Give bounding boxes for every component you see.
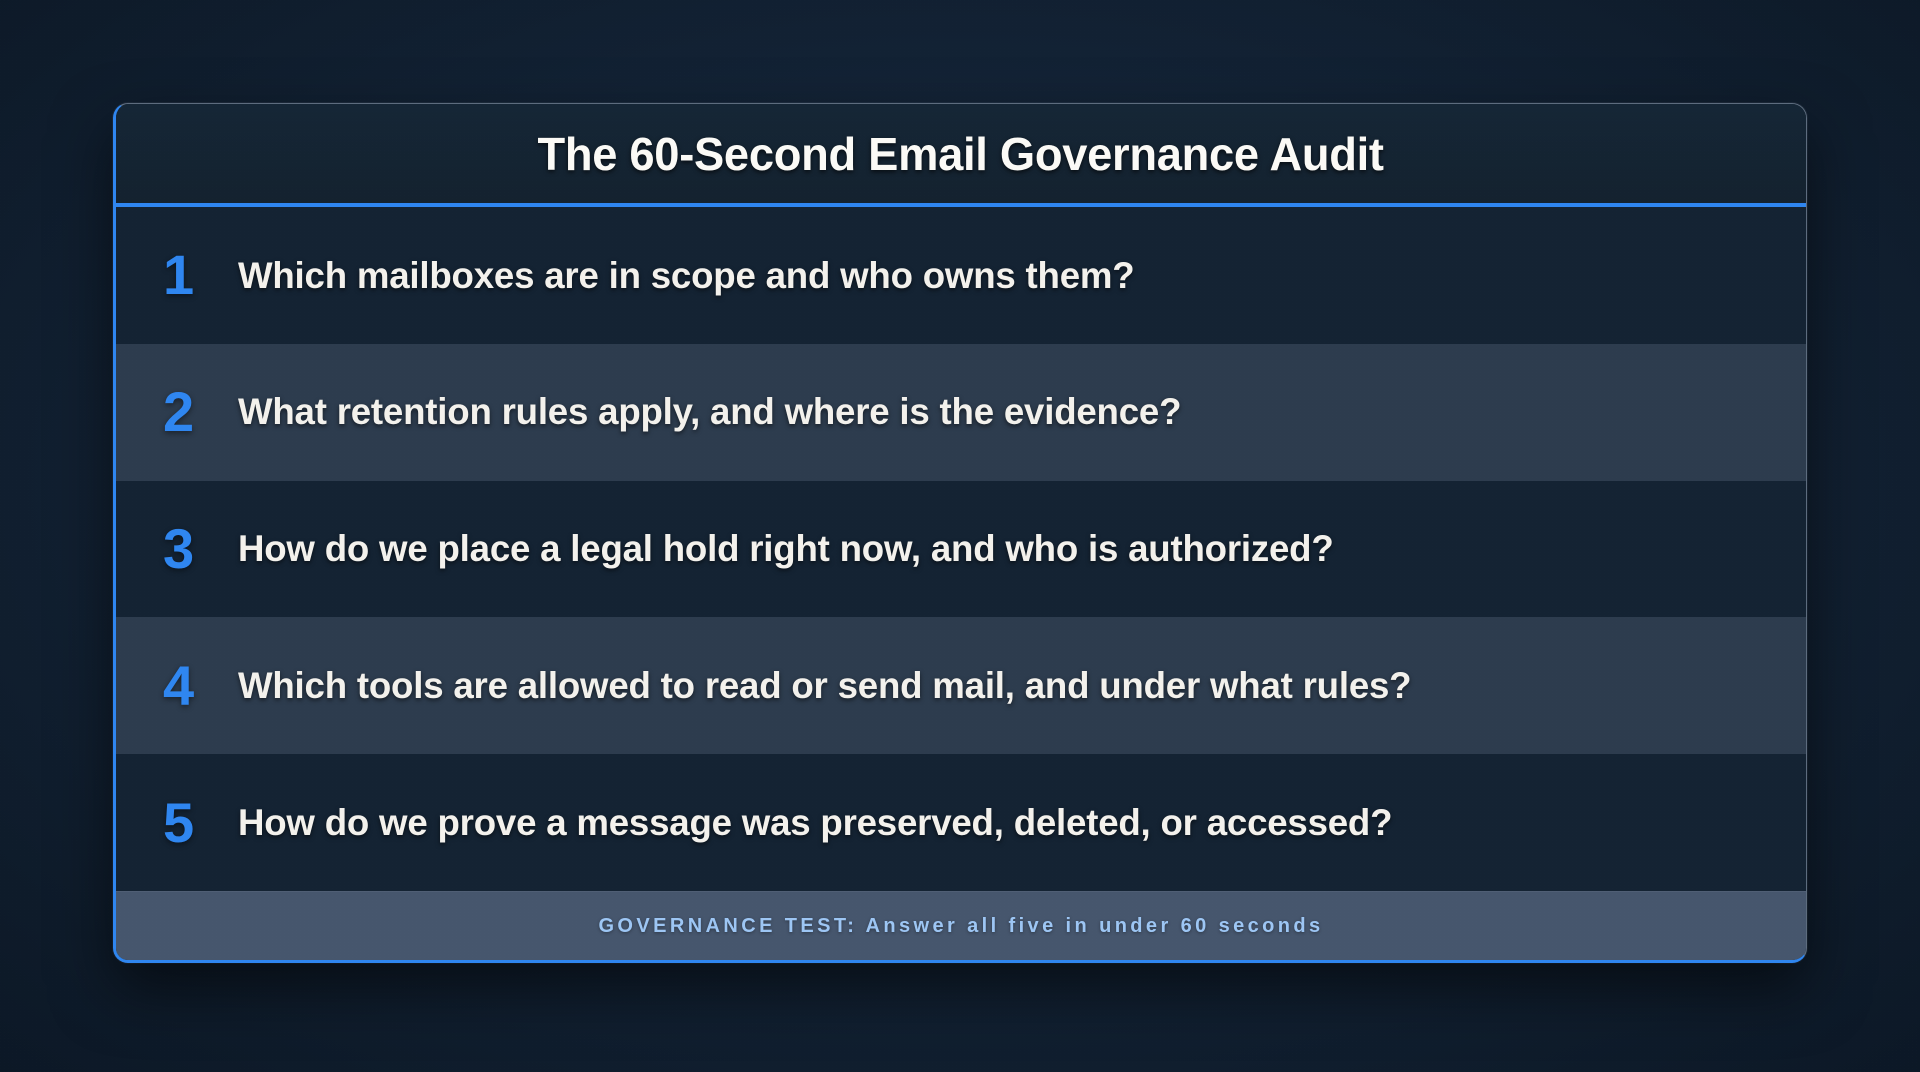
- list-item[interactable]: 5 How do we prove a message was preserve…: [116, 754, 1806, 891]
- list-item-question: Which mailboxes are in scope and who own…: [238, 255, 1134, 296]
- list-item-question: Which tools are allowed to read or send …: [238, 665, 1411, 706]
- list-item[interactable]: 1 Which mailboxes are in scope and who o…: [116, 207, 1806, 344]
- list-item-number: 1: [163, 247, 238, 303]
- page-title: The 60-Second Email Governance Audit: [538, 127, 1384, 181]
- card-footer: GOVERNANCE TEST: Answer all five in unde…: [116, 891, 1806, 960]
- list-item[interactable]: 3 How do we place a legal hold right now…: [116, 481, 1806, 618]
- list-item-question: What retention rules apply, and where is…: [238, 391, 1181, 432]
- footer-note: GOVERNANCE TEST: Answer all five in unde…: [598, 915, 1323, 938]
- list-item-question: How do we place a legal hold right now, …: [238, 528, 1334, 569]
- list-item-number: 5: [163, 795, 238, 851]
- list-item[interactable]: 4 Which tools are allowed to read or sen…: [116, 617, 1806, 754]
- list-item[interactable]: 2 What retention rules apply, and where …: [116, 344, 1806, 481]
- governance-audit-card: The 60-Second Email Governance Audit 1 W…: [113, 103, 1807, 963]
- audit-question-list: 1 Which mailboxes are in scope and who o…: [116, 207, 1806, 891]
- list-item-number: 3: [163, 521, 238, 577]
- card-header: The 60-Second Email Governance Audit: [116, 104, 1806, 203]
- list-item-number: 4: [163, 658, 238, 714]
- list-item-number: 2: [163, 384, 238, 440]
- list-item-question: How do we prove a message was preserved,…: [238, 802, 1392, 843]
